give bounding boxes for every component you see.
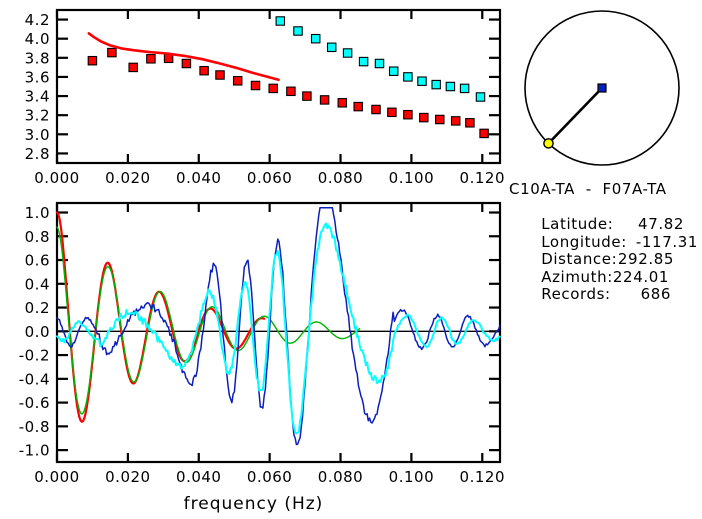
group-velocity-red-marker	[216, 71, 224, 79]
waveform-chart-ytick-label: -0.2	[19, 347, 50, 365]
dispersion-chart-xtick-label: 0.060	[247, 169, 292, 187]
info-label-azimuth: Azimuth:	[541, 268, 613, 286]
group-velocity-red-marker	[480, 129, 488, 137]
info-value-azimuth: 224.01	[613, 269, 702, 287]
waveform-chart-xtick-label: 0.100	[389, 468, 434, 486]
group-velocity-red-marker	[234, 77, 242, 85]
group-velocity-red-marker	[354, 102, 362, 110]
dispersion-chart-xtick-label: 0.100	[389, 169, 434, 187]
group-velocity-red-marker	[129, 63, 137, 71]
phase-velocity-cyan-marker	[343, 49, 351, 57]
station-pair-info: C10A-TA - F07A-TA Latitude:47.82 Longitu…	[509, 181, 702, 304]
info-value-longitude: -117.31	[636, 234, 702, 252]
group-velocity-red-marker	[200, 67, 208, 75]
waveform-chart-ytick-label: 0.8	[25, 228, 50, 246]
group-velocity-red-marker	[108, 48, 116, 56]
waveform-chart-xtick-label: 0.120	[460, 468, 505, 486]
phase-velocity-cyan-marker	[460, 84, 468, 92]
azimuth-path-line	[549, 88, 602, 143]
waveform-chart-xtick-label: 0.020	[105, 468, 150, 486]
waveform-chart-ytick-label: -0.6	[19, 394, 50, 412]
info-label-latitude: Latitude:	[541, 215, 613, 233]
info-label-longitude: Longitude:	[541, 233, 627, 251]
phase-velocity-cyan-marker	[359, 57, 367, 65]
waveform-chart-xtick-label: 0.040	[176, 468, 221, 486]
dispersion-chart-xtick-label: 0.040	[176, 169, 221, 187]
waveform-chart-ytick-label: -0.4	[19, 370, 50, 388]
phase-velocity-cyan-marker	[375, 59, 383, 67]
waveform-cyan	[57, 224, 500, 434]
info-label-records: Records:	[541, 285, 611, 303]
dispersion-chart-ytick-label: 3.6	[25, 68, 50, 86]
waveform-chart-ytick-label: -1.0	[19, 442, 50, 460]
seismic-dispersion-figure: 0.0000.0200.0400.0600.0800.1000.1202.83.…	[0, 0, 702, 519]
group-velocity-red-marker	[251, 81, 259, 89]
phase-velocity-cyan-marker	[446, 82, 454, 90]
group-velocity-red-marker	[88, 57, 96, 65]
info-label-distance: Distance:	[541, 250, 617, 268]
waveform-chart-xtick-label: 0.080	[318, 468, 363, 486]
station-center-square	[598, 84, 606, 92]
dispersion-chart-ytick-label: 3.2	[25, 107, 50, 125]
group-velocity-red-marker	[404, 111, 412, 119]
phase-velocity-cyan-marker	[390, 67, 398, 75]
station-pair-title: C10A-TA - F07A-TA	[509, 181, 702, 199]
phase-velocity-cyan-marker	[276, 17, 284, 25]
group-velocity-red-marker	[182, 59, 190, 67]
waveform-chart-ytick-label: 0.4	[25, 275, 50, 293]
group-velocity-red-marker	[466, 119, 474, 127]
phase-velocity-cyan-marker	[432, 80, 440, 88]
dispersion-chart-xtick-label: 0.080	[318, 169, 363, 187]
info-value-distance: 292.85	[618, 251, 702, 269]
info-value-records: 686	[641, 286, 702, 304]
info-value-latitude: 47.82	[638, 216, 702, 234]
dispersion-chart-xtick-label: 0.020	[105, 169, 150, 187]
waveform-chart-xtick-label: 0.000	[34, 468, 79, 486]
waveform-chart-ytick-label: 0.6	[25, 252, 50, 270]
phase-velocity-cyan-marker	[294, 27, 302, 35]
dispersion-chart-ytick-label: 2.8	[25, 145, 50, 163]
group-velocity-red-marker	[372, 105, 380, 113]
phase-velocity-cyan-marker	[312, 35, 320, 43]
dispersion-chart-ytick-label: 4.0	[25, 30, 50, 48]
group-velocity-red-marker	[269, 84, 277, 92]
dispersion-chart-ytick-label: 3.4	[25, 88, 50, 106]
dispersion-chart-xtick-label: 0.120	[460, 169, 505, 187]
station-edge-circle	[544, 139, 553, 148]
group-velocity-red-marker	[147, 55, 155, 63]
group-velocity-red-marker	[320, 96, 328, 104]
dispersion-chart-ytick-label: 4.2	[25, 11, 50, 29]
group-velocity-red-marker	[436, 115, 444, 123]
phase-velocity-cyan-marker	[476, 93, 484, 101]
group-velocity-red-marker	[287, 87, 295, 95]
waveform-chart-xlabel: frequency (Hz)	[184, 494, 324, 514]
group-velocity-red-marker	[338, 99, 346, 107]
waveform-chart-ytick-label: -0.8	[19, 418, 50, 436]
group-velocity-red-marker	[388, 108, 396, 116]
phase-velocity-cyan-marker	[404, 73, 412, 81]
group-velocity-red-marker	[303, 92, 311, 100]
phase-velocity-cyan-marker	[328, 43, 336, 51]
model-prediction-line	[89, 33, 279, 79]
waveform-chart-xtick-label: 0.060	[247, 468, 292, 486]
waveform-chart-ytick-label: 0.0	[25, 323, 50, 341]
group-velocity-red-marker	[420, 113, 428, 121]
dispersion-chart-ytick-label: 3.8	[25, 49, 50, 67]
info-row-latitude: Latitude:47.82	[509, 199, 702, 217]
group-velocity-red-marker	[452, 117, 460, 125]
waveform-chart-ytick-label: 1.0	[25, 204, 50, 222]
waveform-blue	[57, 208, 500, 445]
waveform-chart-ytick-label: 0.2	[25, 299, 50, 317]
dispersion-chart-xtick-label: 0.000	[34, 169, 79, 187]
phase-velocity-cyan-marker	[418, 77, 426, 85]
dispersion-chart-ytick-label: 3.0	[25, 126, 50, 144]
